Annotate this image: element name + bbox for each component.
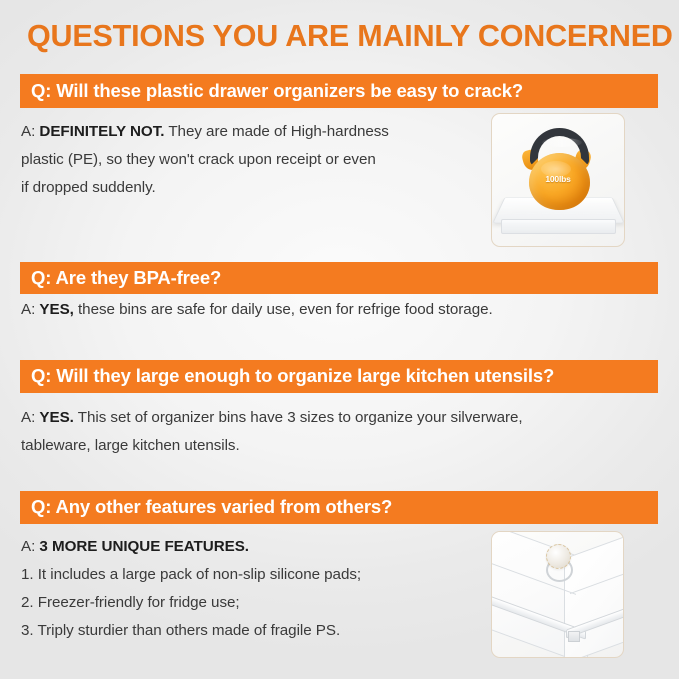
question-bar-3: Q: Will they large enough to organize la… bbox=[20, 360, 658, 393]
question-text-3: Q: Will they large enough to organize la… bbox=[20, 367, 554, 386]
answer-line-4-1: A: 3 MORE UNIQUE FEATURES. bbox=[21, 533, 481, 561]
question-bar-1: Q: Will these plastic drawer organizers … bbox=[20, 74, 658, 108]
kettlebell-weight-label: 100lbs bbox=[492, 174, 624, 184]
answer-line-4-3: 2. Freezer-friendly for fridge use; bbox=[21, 589, 481, 617]
answer-highlight-3: YES. bbox=[39, 409, 73, 426]
answer-line-3-2: tableware, large kitchen utensils. bbox=[21, 432, 661, 460]
clear-bin-base-shape bbox=[501, 219, 616, 234]
kettlebell-handle bbox=[530, 128, 589, 166]
answer-block-4: A: 3 MORE UNIQUE FEATURES. 1. It include… bbox=[21, 533, 481, 645]
clear-bin-corner-photo bbox=[491, 531, 624, 658]
page-title: QUESTIONS YOU ARE MAINLY CONCERNED bbox=[27, 16, 667, 56]
answer-line-1-2: plastic (PE), so they won't crack upon r… bbox=[21, 146, 481, 174]
answer-text-1-1: They are made of High-hardness bbox=[168, 123, 389, 140]
bin-corner-foot bbox=[568, 631, 580, 642]
answer-prefix-4: A: bbox=[21, 538, 35, 555]
answer-block-1: A: DEFINITELY NOT. They are made of High… bbox=[21, 118, 481, 202]
answer-line-2-1: A: YES, these bins are safe for daily us… bbox=[21, 296, 661, 324]
question-text-4: Q: Any other features varied from others… bbox=[20, 498, 392, 517]
clear-bin-illustration bbox=[492, 532, 623, 657]
answer-highlight-4: 3 MORE UNIQUE FEATURES. bbox=[39, 538, 249, 555]
question-text-2: Q: Are they BPA-free? bbox=[20, 269, 221, 288]
answer-highlight-2: YES, bbox=[39, 301, 73, 318]
answer-line-3-1: A: YES. This set of organizer bins have … bbox=[21, 404, 661, 432]
answer-prefix-1: A: bbox=[21, 123, 35, 140]
faq-infographic: QUESTIONS YOU ARE MAINLY CONCERNED Q: Wi… bbox=[0, 0, 679, 679]
question-text-1: Q: Will these plastic drawer organizers … bbox=[20, 82, 523, 101]
answer-line-1-1: A: DEFINITELY NOT. They are made of High… bbox=[21, 118, 481, 146]
answer-block-3: A: YES. This set of organizer bins have … bbox=[21, 404, 661, 460]
bin-silicone-pad bbox=[546, 544, 571, 569]
answer-highlight-1: DEFINITELY NOT. bbox=[39, 123, 164, 140]
answer-prefix-2: A: bbox=[21, 301, 35, 318]
kettlebell-illustration: 100lbs bbox=[492, 114, 624, 246]
answer-line-4-4: 3. Triply sturdier than others made of f… bbox=[21, 617, 481, 645]
kettlebell-on-clear-bin-photo: 100lbs bbox=[491, 113, 625, 247]
answer-line-1-3: if dropped suddenly. bbox=[21, 174, 481, 202]
question-bar-2: Q: Are they BPA-free? bbox=[20, 262, 658, 294]
answer-text-2-1: these bins are safe for daily use, even … bbox=[78, 301, 493, 318]
answer-line-4-2: 1. It includes a large pack of non-slip … bbox=[21, 561, 481, 589]
answer-text-3-1: This set of organizer bins have 3 sizes … bbox=[78, 409, 523, 426]
answer-block-2: A: YES, these bins are safe for daily us… bbox=[21, 296, 661, 324]
answer-prefix-3: A: bbox=[21, 409, 35, 426]
question-bar-4: Q: Any other features varied from others… bbox=[20, 491, 658, 524]
